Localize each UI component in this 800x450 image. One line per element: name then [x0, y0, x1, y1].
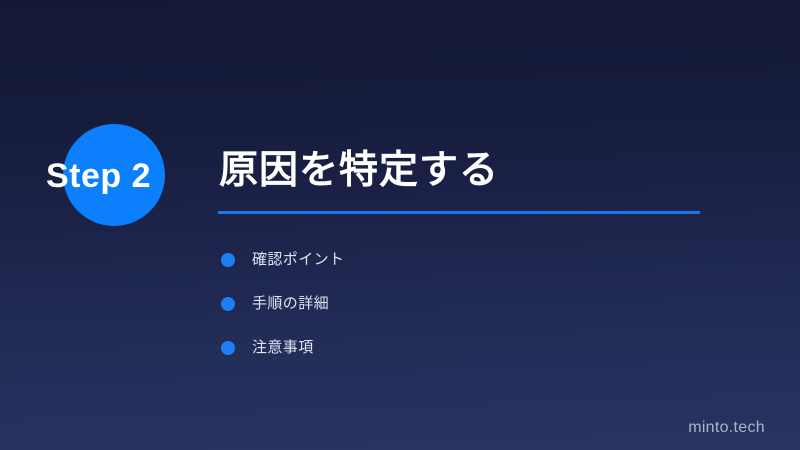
bullet-dot-icon	[221, 253, 235, 267]
list-item: 手順の詳細	[221, 282, 691, 326]
list-item: 確認ポイント	[221, 238, 691, 282]
title-divider	[218, 211, 700, 214]
bullet-item-label: 手順の詳細	[252, 294, 329, 314]
slide-title: 原因を特定する	[219, 148, 499, 194]
footer-watermark: minto.tech	[688, 418, 765, 438]
bullet-item-label: 確認ポイント	[252, 250, 344, 270]
presentation-slide: Step 2 原因を特定する 確認ポイント 手順の詳細 注意事項 minto.t…	[0, 0, 800, 450]
list-item: 注意事項	[221, 326, 691, 370]
bullet-item-label: 注意事項	[252, 338, 314, 358]
step-badge-label: Step 2	[46, 157, 206, 195]
bullet-dot-icon	[221, 341, 235, 355]
bullet-dot-icon	[221, 297, 235, 311]
bullet-list: 確認ポイント 手順の詳細 注意事項	[221, 238, 691, 370]
